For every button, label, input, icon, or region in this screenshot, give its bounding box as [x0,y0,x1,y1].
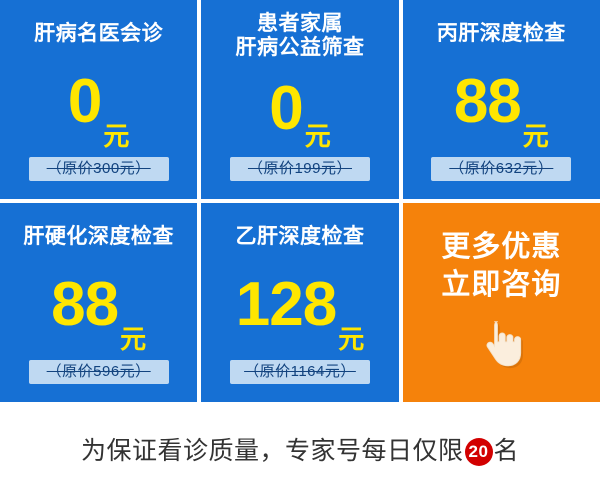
offer-price-value: 0 [68,71,101,133]
offer-card-hepatitis-c-exam[interactable]: 丙肝深度检查 88 元 （原价632元） [403,0,600,199]
daily-quota-badge: 20 [465,438,493,466]
notice-suffix: 名 [494,436,520,466]
offer-original-price-pill: （原价596元） [29,360,169,384]
offer-original-price-text: （原价300元） [47,158,151,180]
offer-original-price-text: （原价199元） [248,158,352,180]
offer-price-value: 0 [269,78,302,140]
pointing-hand-icon [472,314,530,372]
offer-card-family-free-screening[interactable]: 患者家属 肝病公益筛查 0 元 （原价199元） [201,0,398,199]
offer-original-price-pill: （原价199元） [230,157,370,181]
offer-price-row: 0 元 [0,46,197,157]
notice-text: 为保证看诊质量，专家号每日仅限 20 名 [81,436,519,466]
offer-original-price-text: （原价596元） [47,361,151,383]
offer-card-hepatitis-b-exam[interactable]: 乙肝深度检查 128 元 （原价1164元） [201,203,398,402]
notice-bar: 为保证看诊质量，专家号每日仅限 20 名 [0,402,600,500]
cta-title: 更多优惠 立即咨询 [441,228,561,304]
offer-title: 乙肝深度检查 [235,225,364,249]
offer-title: 肝病名医会诊 [34,22,163,46]
offer-card-liver-expert-consult[interactable]: 肝病名医会诊 0 元 （原价300元） [0,0,197,199]
offer-original-price-text: （原价1164元） [244,361,356,383]
offer-original-price-text: （原价632元） [449,158,553,180]
offer-price-row: 128 元 [201,249,398,360]
offer-title: 患者家属 肝病公益筛查 [235,12,364,60]
offer-card-cirrhosis-exam[interactable]: 肝硬化深度检查 88 元 （原价596元） [0,203,197,402]
offer-price-row: 88 元 [0,249,197,360]
offer-grid: 肝病名医会诊 0 元 （原价300元） 患者家属 肝病公益筛查 0 元 （原价1… [0,0,600,402]
offer-price-unit: 元 [120,326,146,352]
offer-price-value: 88 [51,274,118,336]
notice-prefix: 为保证看诊质量，专家号每日仅限 [81,436,464,466]
offer-price-unit: 元 [103,123,129,149]
offer-price-row: 0 元 [201,60,398,157]
offer-price-unit: 元 [523,123,549,149]
offer-original-price-pill: （原价632元） [431,157,571,181]
offer-price-value: 128 [236,274,336,336]
offer-price-unit: 元 [338,326,364,352]
promo-banner: 肝病名医会诊 0 元 （原价300元） 患者家属 肝病公益筛查 0 元 （原价1… [0,0,600,500]
offer-price-unit: 元 [305,123,331,149]
more-offers-consult-button[interactable]: 更多优惠 立即咨询 [403,203,600,402]
offer-original-price-pill: （原价300元） [29,157,169,181]
offer-price-value: 88 [454,71,521,133]
offer-title: 肝硬化深度检查 [23,225,174,249]
offer-price-row: 88 元 [403,46,600,157]
offer-original-price-pill: （原价1164元） [230,360,370,384]
offer-title: 丙肝深度检查 [437,22,566,46]
